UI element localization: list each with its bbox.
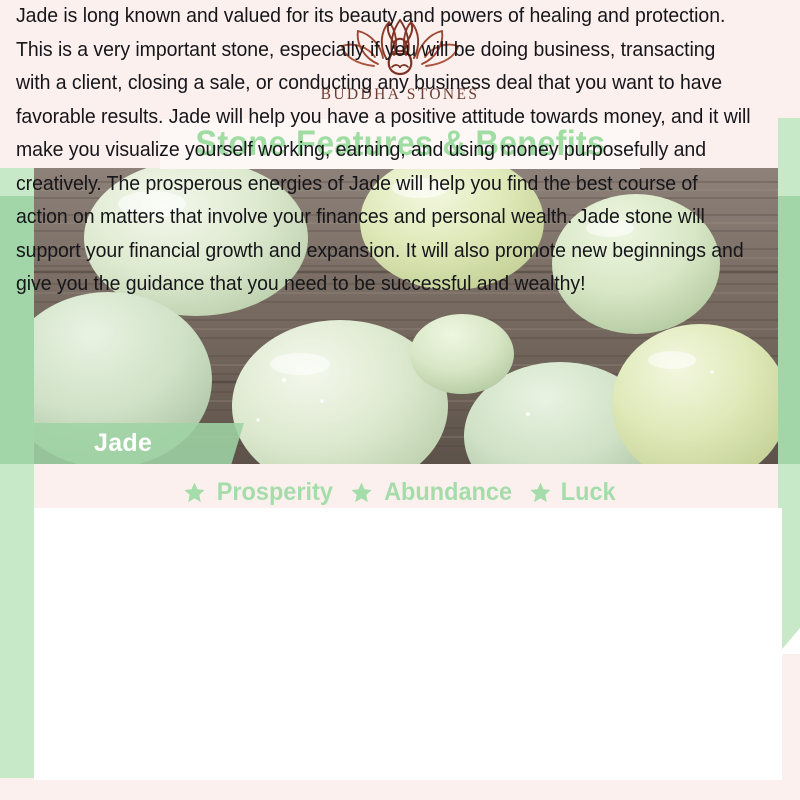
- keyword-list: Prosperity Abundance Luck: [0, 476, 800, 508]
- description-text: Jade is long known and valued for its be…: [16, 0, 751, 302]
- keyword-label: Prosperity: [217, 478, 333, 507]
- stone-name-tag: Jade: [34, 423, 244, 464]
- star-icon: [183, 481, 206, 504]
- star-icon: [350, 481, 373, 504]
- product-info-card: BUDDHA STONES: [0, 0, 800, 800]
- decorative-band-right-overlay: [778, 196, 800, 464]
- keyword-label: Abundance: [384, 478, 512, 507]
- description-panel: [34, 508, 782, 780]
- keyword-label: Luck: [560, 478, 615, 507]
- bottom-edge-strip: [0, 778, 800, 800]
- keyword-item-prosperity: Prosperity: [183, 478, 337, 507]
- keyword-item-luck: Luck: [529, 478, 617, 507]
- stone-name-label: Jade: [94, 429, 152, 458]
- keyword-item-abundance: Abundance: [350, 478, 516, 507]
- star-icon: [529, 481, 552, 504]
